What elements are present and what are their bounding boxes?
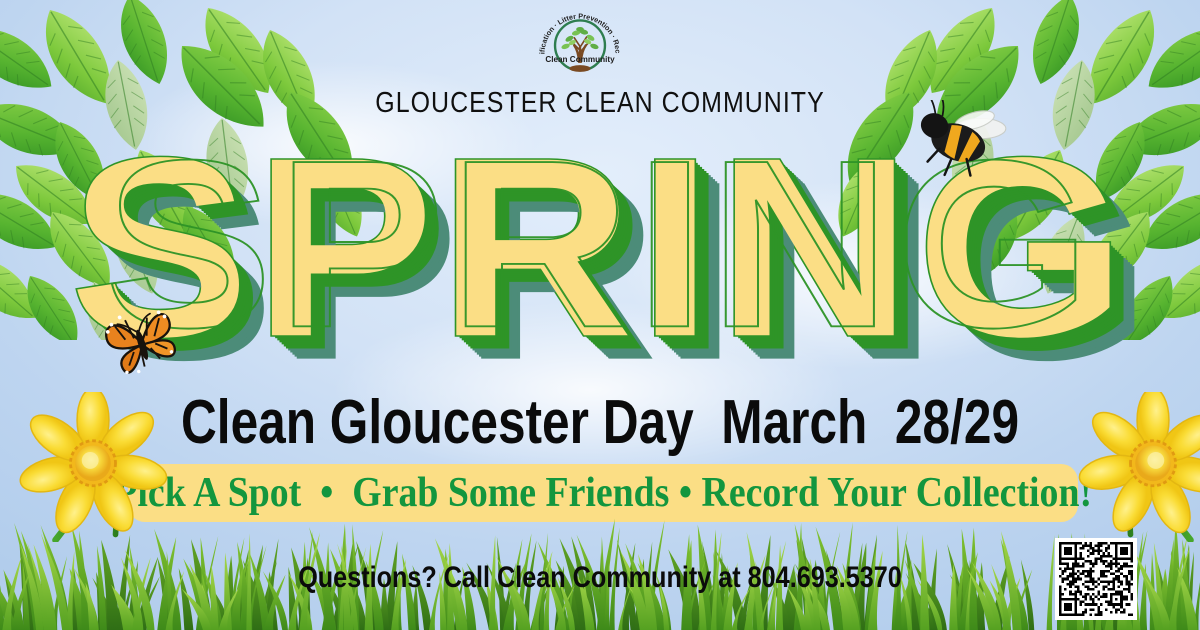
grass-blade <box>39 564 56 630</box>
grass-blade <box>769 589 776 630</box>
grass-blade <box>20 543 43 630</box>
grass-blade <box>51 556 67 630</box>
clean-community-logo: Beautification · Litter Prevention · Rec… <box>532 8 628 80</box>
grass-blade <box>21 531 48 630</box>
grass-blade <box>41 533 69 630</box>
grass-blade <box>1179 544 1190 630</box>
headline-inline-rule: SPRING <box>0 125 1200 364</box>
grass-blade <box>3 569 24 630</box>
daffodil-icon <box>1078 392 1200 542</box>
grass-blade <box>1170 533 1188 630</box>
grass-blade <box>182 589 212 630</box>
grass-blade <box>68 568 80 630</box>
grass-blade <box>218 588 238 630</box>
call-to-action-text: Pick A Spot • Grab Some Friends • Record… <box>114 472 1092 514</box>
grass-blade <box>1194 520 1200 630</box>
grass-blade <box>1174 561 1186 630</box>
grass-blade <box>1158 569 1168 630</box>
grass-blade <box>19 542 35 630</box>
grass-blade <box>0 572 15 630</box>
grass-blade <box>1182 539 1192 630</box>
grass-blade <box>1171 553 1190 630</box>
grass-blade <box>1171 550 1182 630</box>
grass-blade <box>70 568 89 630</box>
spring-clean-gloucester-poster: Beautification · Litter Prevention · Rec… <box>0 0 1200 630</box>
grass-blade <box>0 554 5 630</box>
grass-blade <box>1154 542 1165 630</box>
headline-wordmark: SPRING SPRING <box>0 120 1200 385</box>
grass-blade <box>14 523 40 630</box>
grass-blade <box>1139 563 1147 630</box>
grass-blade <box>11 573 29 630</box>
grass-blade <box>1174 582 1186 630</box>
contact-footer: Questions? Call Clean Community at 804.6… <box>96 563 1104 593</box>
grass-blade <box>1135 552 1164 630</box>
qr-code-icon[interactable] <box>1055 538 1137 620</box>
grass-blade <box>41 525 70 630</box>
grass-blade <box>1177 567 1197 630</box>
grass-blade <box>1171 520 1182 630</box>
call-to-action-banner: Pick A Spot • Grab Some Friends • Record… <box>128 464 1078 522</box>
grass-blade <box>27 543 48 630</box>
grass-blade <box>66 551 74 630</box>
grass-blade <box>4 571 21 630</box>
grass-blade <box>79 531 89 630</box>
grass-blade <box>34 544 57 630</box>
grass-blade <box>1161 569 1170 630</box>
grass-blade <box>1150 553 1157 630</box>
grass-blade <box>1186 552 1194 630</box>
logo-name-text: Clean Community <box>545 55 615 64</box>
grass-blade <box>1168 546 1190 630</box>
grass-blade <box>2 557 21 630</box>
grass-blade <box>1157 560 1171 630</box>
event-subtitle: Clean Gloucester Day March 28/29 <box>120 392 1080 454</box>
grass-blade <box>114 588 137 630</box>
grass-blade <box>1164 539 1174 630</box>
grass-blade <box>71 525 94 630</box>
grass-blade <box>23 563 30 630</box>
grass-blade <box>1144 576 1170 630</box>
